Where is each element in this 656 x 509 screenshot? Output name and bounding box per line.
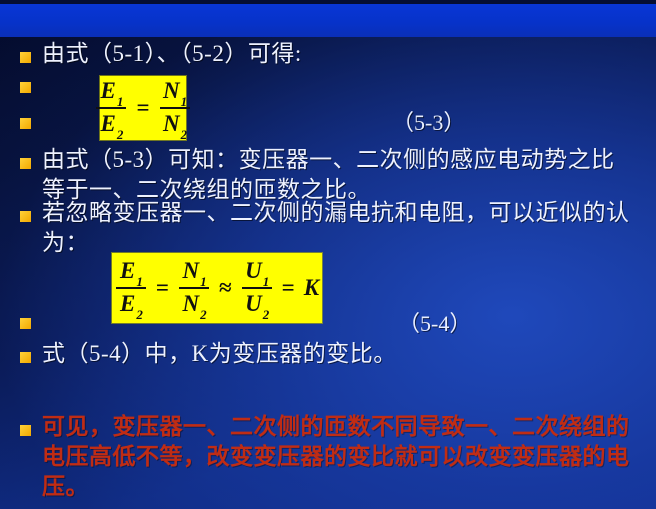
operator-equals: = [153,275,172,301]
subscript-2: 2 [181,127,188,142]
formula-5-4-expression: E1 E2 = N1 N2 ≈ U1 U2 = K [115,258,319,318]
variable-N: N [182,291,199,316]
bullet-marker-5 [20,211,31,222]
fraction-numerator: E1 [99,78,125,105]
variable-N: N [163,78,180,103]
fraction-denominator: N2 [180,291,207,318]
fraction-denominator: N2 [161,111,188,138]
variable-N: N [182,258,199,283]
subscript-2: 2 [200,307,207,322]
bullet-text-4: 式（5-4）中，K为变压器的变比。 [42,339,622,369]
bullet-marker-4 [20,158,31,169]
operator-equals: = [133,95,152,121]
variable-N: N [163,111,180,136]
bullet-marker-6 [20,318,31,329]
subscript-1: 1 [200,274,207,289]
bullet-marker-2 [20,82,31,93]
variable-E: E [101,111,116,136]
fraction-n1-n2: N1 N2 [178,258,210,318]
operator-approx: ≈ [216,275,235,301]
subscript-1: 1 [181,94,188,109]
fraction-denominator: U2 [243,291,270,318]
subscript-2: 2 [136,307,143,322]
fraction-numerator: U1 [243,258,270,285]
equation-number-5-3: （5-3） [392,110,465,136]
variable-K: K [304,275,319,301]
fraction-numerator: N1 [161,78,188,105]
fraction-numerator: E1 [118,258,144,285]
formula-box-5-4: E1 E2 = N1 N2 ≈ U1 U2 = K [112,253,322,323]
subscript-1: 1 [136,274,143,289]
bullet-marker-3 [20,118,31,129]
subscript-1: 1 [117,94,124,109]
formula-5-3-expression: E1 E2 = N1 N2 [95,78,190,138]
slide-title-banner [0,4,656,37]
variable-E: E [101,78,116,103]
variable-U: U [245,291,262,316]
variable-U: U [245,258,262,283]
bullet-text-1: 由式（5-1）、（5-2）可得: [42,39,622,69]
bullet-text-highlight: 可见，变压器一、二次侧的匝数不同导致一、二次绕组的电压高低不等，改变变压器的变比… [42,412,640,502]
formula-box-5-3: E1 E2 = N1 N2 [100,76,186,140]
subscript-2: 2 [263,307,270,322]
subscript-1: 1 [263,274,270,289]
fraction-e1-e2: E1 E2 [95,78,127,138]
fraction-e1-e2: E1 E2 [115,258,147,318]
fraction-denominator: E2 [99,111,125,138]
fraction-n1-n2: N1 N2 [159,78,191,138]
bullet-marker-7 [20,352,31,363]
slide-content-area: 由式（5-1）、（5-2）可得: E1 E2 = N1 N2 （5-3） [0,37,656,509]
fraction-denominator: E2 [118,291,144,318]
bullet-text-2: 由式（5-3）可知：变压器一、二次侧的感应电动势之比等于一、二次绕组的匝数之比。 [42,145,636,205]
bullet-text-3: 若忽略变压器一、二次侧的漏电抗和电阻，可以近似的认为： [42,198,640,258]
variable-E: E [120,291,135,316]
fraction-numerator: N1 [180,258,207,285]
variable-E: E [120,258,135,283]
operator-equals: = [279,275,298,301]
subscript-2: 2 [117,127,124,142]
bullet-marker-1 [20,52,31,63]
equation-number-5-4: （5-4） [398,311,471,337]
slide-canvas: 由式（5-1）、（5-2）可得: E1 E2 = N1 N2 （5-3） [0,0,656,509]
bullet-marker-8 [20,425,31,436]
fraction-u1-u2: U1 U2 [241,258,273,318]
